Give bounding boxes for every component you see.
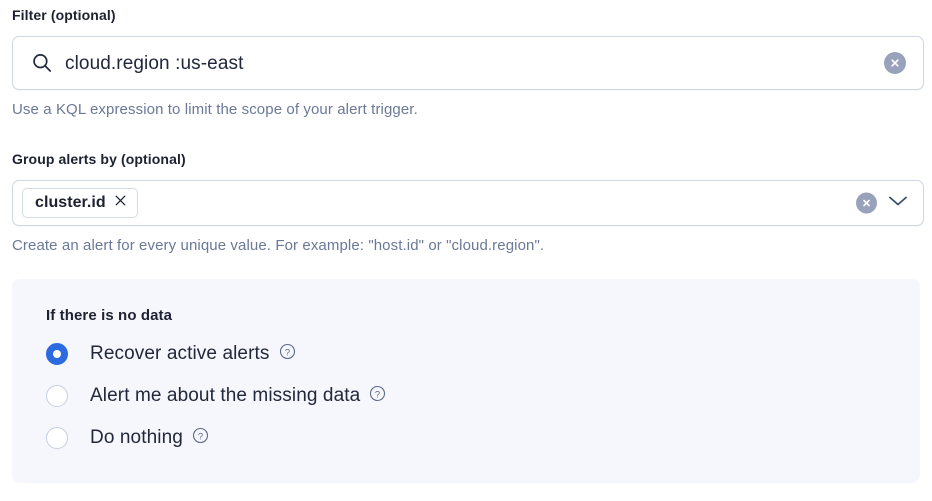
svg-text:?: ?	[284, 347, 289, 358]
radio-option-label: Do nothing	[90, 427, 183, 449]
group-alerts-clear-button[interactable]	[856, 193, 877, 214]
question-circle-icon[interactable]: ?	[279, 343, 296, 365]
no-data-title: If there is no data	[46, 307, 920, 324]
radio-indicator[interactable]	[46, 427, 68, 449]
group-alerts-actions	[856, 193, 909, 214]
question-circle-icon[interactable]: ?	[192, 427, 209, 449]
search-icon	[31, 52, 53, 74]
radio-dot	[53, 350, 61, 358]
radio-option-label: Recover active alerts	[90, 343, 270, 365]
filter-clear-button[interactable]	[884, 52, 906, 74]
radio-indicator[interactable]	[46, 385, 68, 407]
radio-option-recover-active-alerts[interactable]: Recover active alerts ?	[46, 339, 920, 368]
no-data-radio-group: Recover active alerts ? Alert me about t…	[46, 339, 920, 452]
filter-input-value[interactable]: cloud.region :us-east	[65, 54, 923, 73]
radio-indicator[interactable]	[46, 343, 68, 365]
question-circle-icon[interactable]: ?	[369, 385, 386, 407]
radio-option-alert-me-about-the-missing-data[interactable]: Alert me about the missing data ?	[46, 381, 920, 410]
svg-text:?: ?	[375, 389, 380, 400]
no-data-panel: If there is no data Recover active alert…	[12, 279, 920, 483]
group-alerts-help-text: Create an alert for every unique value. …	[12, 237, 924, 254]
filter-help-text: Use a KQL expression to limit the scope …	[12, 101, 924, 118]
alert-rule-form: Filter (optional) cloud.region :us-east …	[0, 0, 932, 501]
svg-text:?: ?	[198, 431, 203, 442]
filter-field-group: Filter (optional) cloud.region :us-east …	[12, 7, 924, 118]
radio-option-label: Alert me about the missing data	[90, 385, 360, 407]
group-alerts-pill-label: cluster.id	[35, 194, 106, 212]
group-alerts-pill[interactable]: cluster.id	[22, 188, 138, 218]
group-alerts-field-group: Group alerts by (optional) cluster.id	[12, 151, 924, 254]
close-icon[interactable]	[114, 194, 127, 212]
radio-option-do-nothing[interactable]: Do nothing ?	[46, 423, 920, 452]
group-alerts-label: Group alerts by (optional)	[12, 151, 924, 167]
filter-input[interactable]: cloud.region :us-east	[12, 36, 924, 90]
filter-label: Filter (optional)	[12, 7, 924, 23]
group-alerts-combobox[interactable]: cluster.id	[12, 180, 924, 226]
chevron-down-icon[interactable]	[887, 194, 909, 213]
